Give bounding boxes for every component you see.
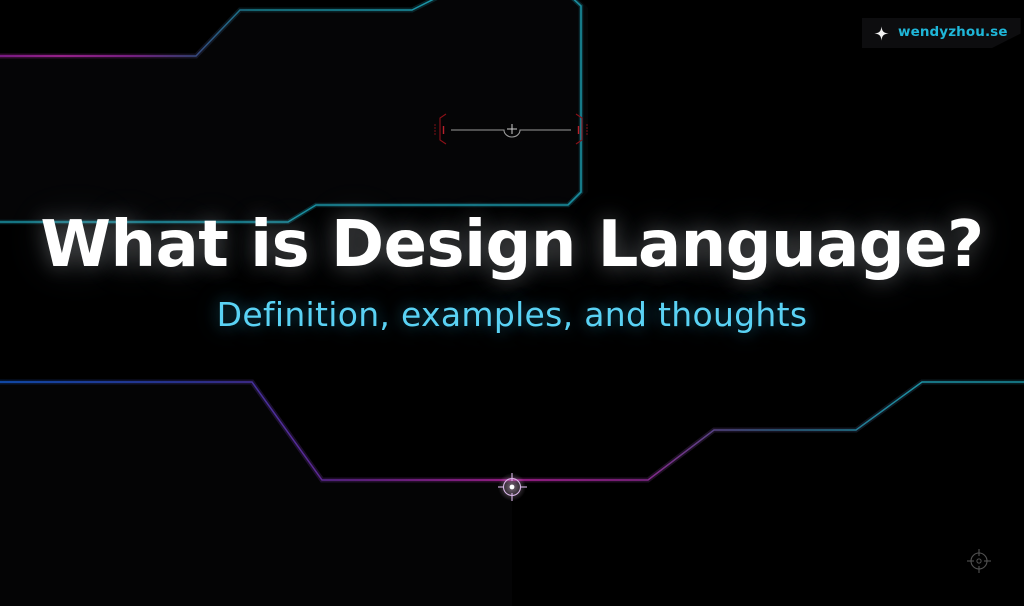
top-accent-line xyxy=(0,0,440,56)
hud-rule xyxy=(451,130,571,137)
lower-panel-fill xyxy=(0,382,512,606)
bottom-accent-line xyxy=(0,382,1024,480)
hud-left-bracket xyxy=(440,114,446,144)
top-right-bracket-glow xyxy=(0,0,581,222)
hud-left-ticks xyxy=(434,125,436,134)
slide-canvas: wendyzhou.se What is Design Language? De… xyxy=(0,0,1024,606)
reticle-marker-secondary xyxy=(967,549,991,573)
bottom-accent-line-glow xyxy=(0,382,1024,480)
four-point-star-icon xyxy=(874,26,889,41)
hud-right-ticks xyxy=(586,125,588,134)
brand-label: wendyzhou.se xyxy=(898,26,1008,40)
reticle-marker-primary xyxy=(498,473,527,501)
top-right-bracket xyxy=(0,0,581,222)
hud-right-bracket xyxy=(576,114,582,144)
hud-center-plus xyxy=(507,124,517,134)
hero-block: What is Design Language? Definition, exa… xyxy=(0,212,1024,333)
page-subtitle: Definition, examples, and thoughts xyxy=(0,297,1024,333)
hud-measurement-widget xyxy=(434,114,588,144)
page-title: What is Design Language? xyxy=(0,212,1024,279)
top-accent-line-glow xyxy=(0,0,440,56)
upper-panel-fill xyxy=(0,0,588,222)
brand-badge[interactable]: wendyzhou.se xyxy=(862,18,1021,48)
